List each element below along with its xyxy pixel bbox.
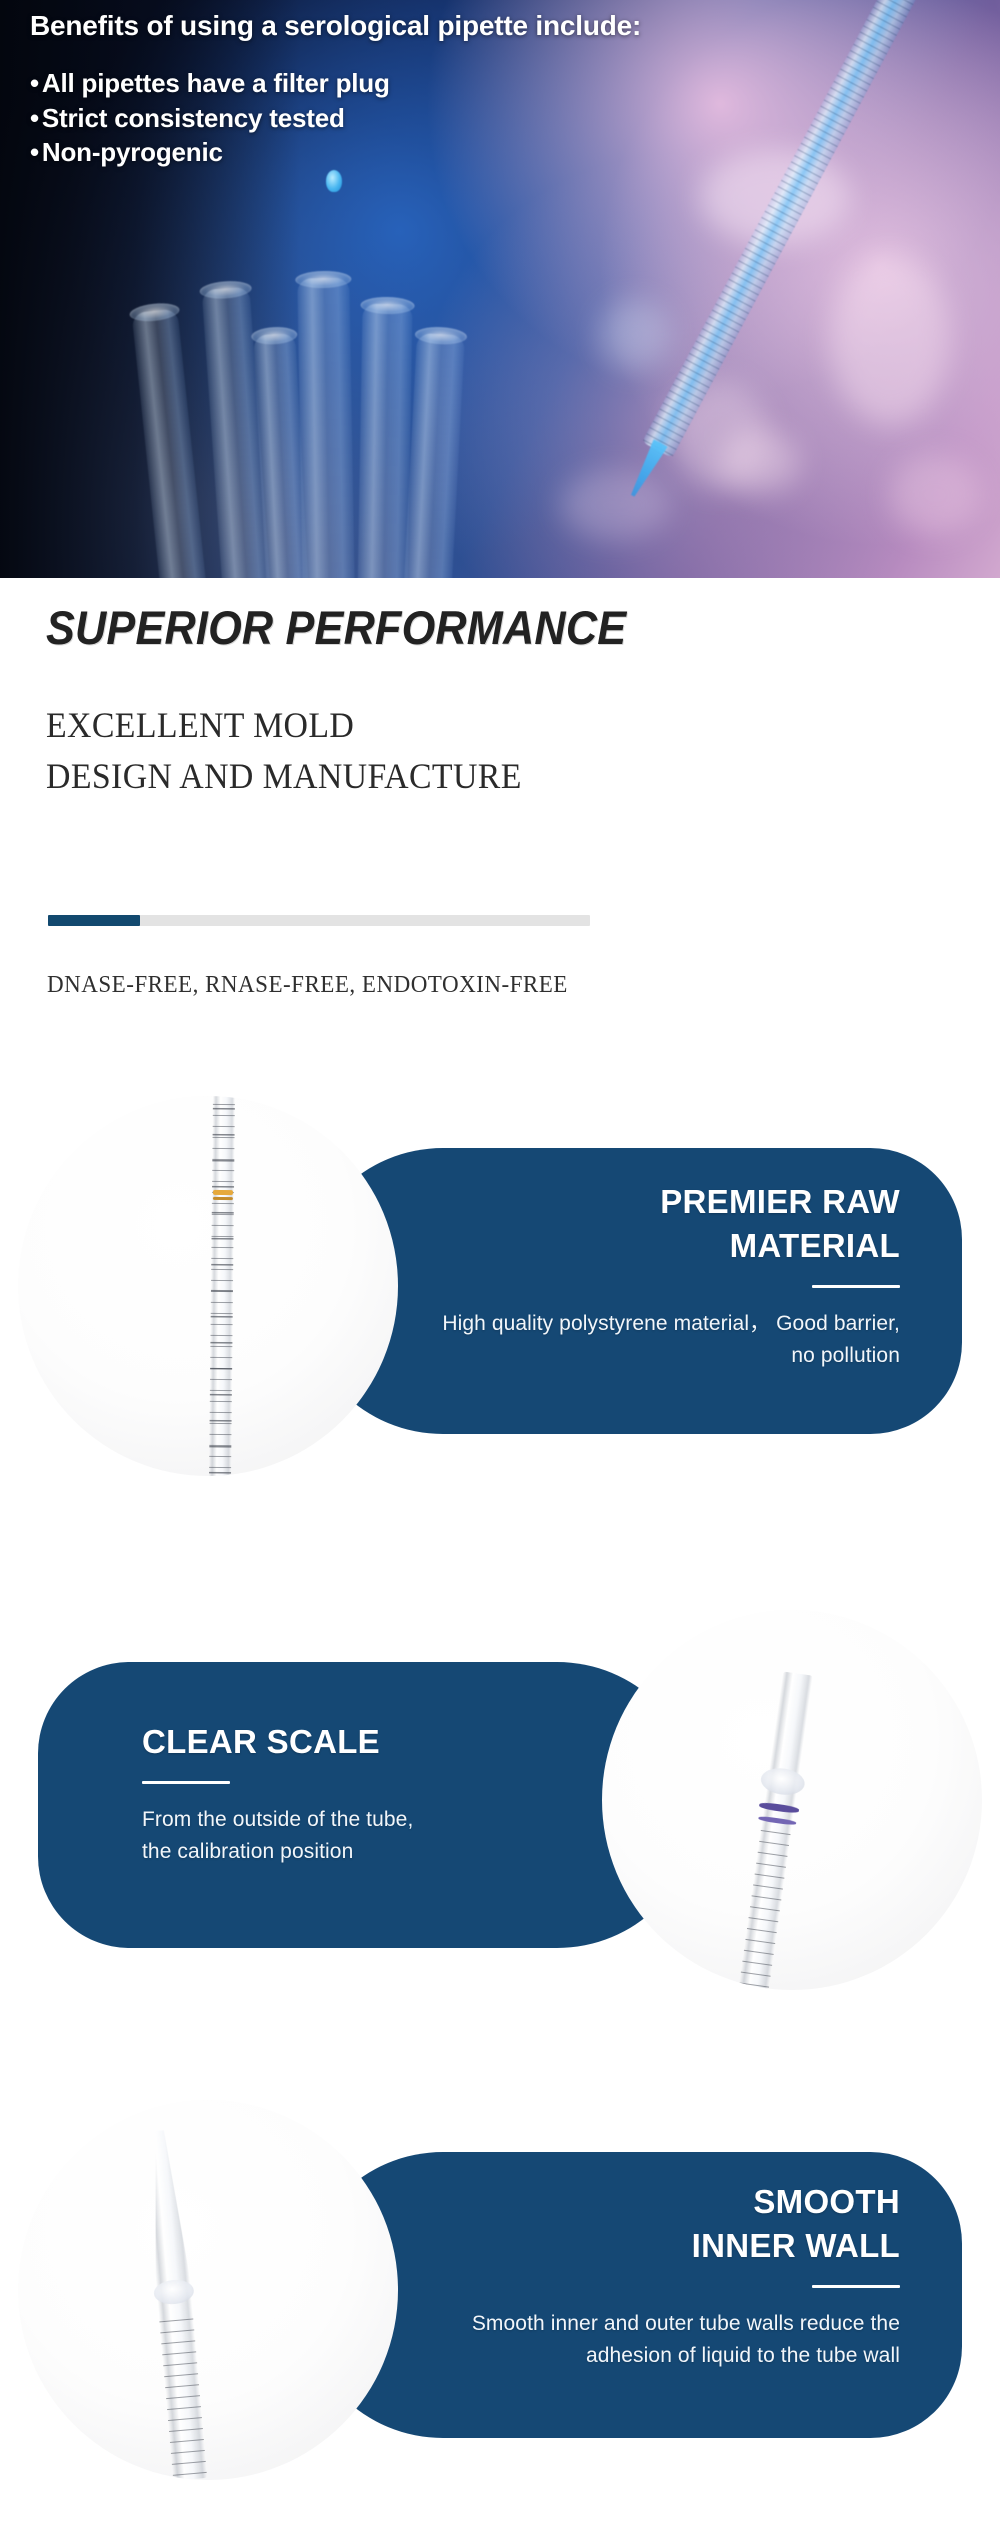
feature-title-line2: INNER WALL [440, 2224, 900, 2268]
hero-bullet-item: •All pipettes have a filter plug [30, 66, 650, 100]
pipette-product-image [143, 2129, 207, 2480]
feature-image-circle [602, 1610, 982, 1990]
performance-subheadline-line1: EXCELLENT MOLD [46, 700, 522, 751]
feature-divider [142, 1781, 230, 1784]
performance-note: DNASE-FREE, RNASE-FREE, ENDOTOXIN-FREE [47, 972, 568, 999]
hero-bullet-label: Strict consistency tested [42, 103, 345, 133]
liquid-droplet [326, 170, 342, 192]
feature-description: Smooth inner and outer tube walls reduce… [440, 2308, 900, 2372]
test-tube [131, 308, 206, 578]
feature-image-circle [18, 1096, 398, 1476]
hero-bullet-item: •Non-pyrogenic [30, 135, 650, 169]
performance-subheadline-line2: DESIGN AND MANUFACTURE [46, 751, 522, 802]
hero-bullet-item: •Strict consistency tested [30, 101, 650, 135]
test-tubes-group [0, 248, 1000, 578]
feature-title-line1: PREMIER RAW [440, 1180, 900, 1224]
feature-text-block: CLEAR SCALE From the outside of the tube… [142, 1720, 562, 1868]
performance-section: SUPERIOR PERFORMANCE EXCELLENT MOLD DESI… [0, 578, 1000, 1080]
feature-card: SMOOTH INNER WALL Smooth inner and outer… [0, 2100, 1000, 2480]
bullet-marker-icon: • [30, 103, 39, 133]
feature-description: High quality polystyrene material， Good … [440, 1308, 900, 1372]
hero-bullet-label: Non-pyrogenic [42, 137, 223, 167]
test-tube [403, 333, 465, 578]
feature-image-circle [18, 2100, 398, 2480]
hero-banner: Benefits of using a serological pipette … [0, 0, 1000, 578]
feature-title: CLEAR SCALE [142, 1720, 562, 1764]
feature-title: SMOOTH INNER WALL [440, 2180, 900, 2268]
feature-title-line1: SMOOTH [440, 2180, 900, 2224]
pipette-product-image [209, 1096, 235, 1476]
feature-title: PREMIER RAW MATERIAL [440, 1180, 900, 1268]
progress-bar-fill [48, 915, 140, 926]
pipette-color-band [213, 1190, 233, 1195]
pipette-color-band [213, 1197, 233, 1200]
pipette-graduations [737, 1830, 790, 1990]
performance-subheadline: EXCELLENT MOLD DESIGN AND MANUFACTURE [46, 700, 522, 802]
hero-text-block: Benefits of using a serological pipette … [30, 8, 650, 169]
bullet-marker-icon: • [30, 68, 39, 98]
test-tube [357, 304, 412, 578]
pipette-graduations [159, 2318, 207, 2480]
hero-bullet-label: All pipettes have a filter plug [42, 68, 390, 98]
hero-title: Benefits of using a serological pipette … [30, 8, 650, 44]
pipette-major-graduations [209, 1096, 235, 1476]
feature-title-line2: MATERIAL [440, 1224, 900, 1268]
test-tube [297, 278, 354, 578]
feature-divider [812, 2285, 900, 2288]
feature-card: CLEAR SCALE From the outside of the tube… [0, 1610, 1000, 1990]
feature-card: PREMIER RAW MATERIAL High quality polyst… [0, 1096, 1000, 1476]
pipette-product-image [737, 1672, 813, 1990]
feature-divider [812, 1285, 900, 1288]
feature-title-line1: CLEAR SCALE [142, 1720, 562, 1764]
progress-bar-track [48, 915, 590, 926]
feature-text-block: SMOOTH INNER WALL Smooth inner and outer… [440, 2180, 900, 2372]
feature-text-block: PREMIER RAW MATERIAL High quality polyst… [440, 1180, 900, 1372]
hero-bullet-list: •All pipettes have a filter plug •Strict… [30, 66, 650, 169]
performance-headline: SUPERIOR PERFORMANCE [46, 600, 626, 655]
bullet-marker-icon: • [30, 137, 39, 167]
feature-description: From the outside of the tube, the calibr… [142, 1804, 442, 1868]
